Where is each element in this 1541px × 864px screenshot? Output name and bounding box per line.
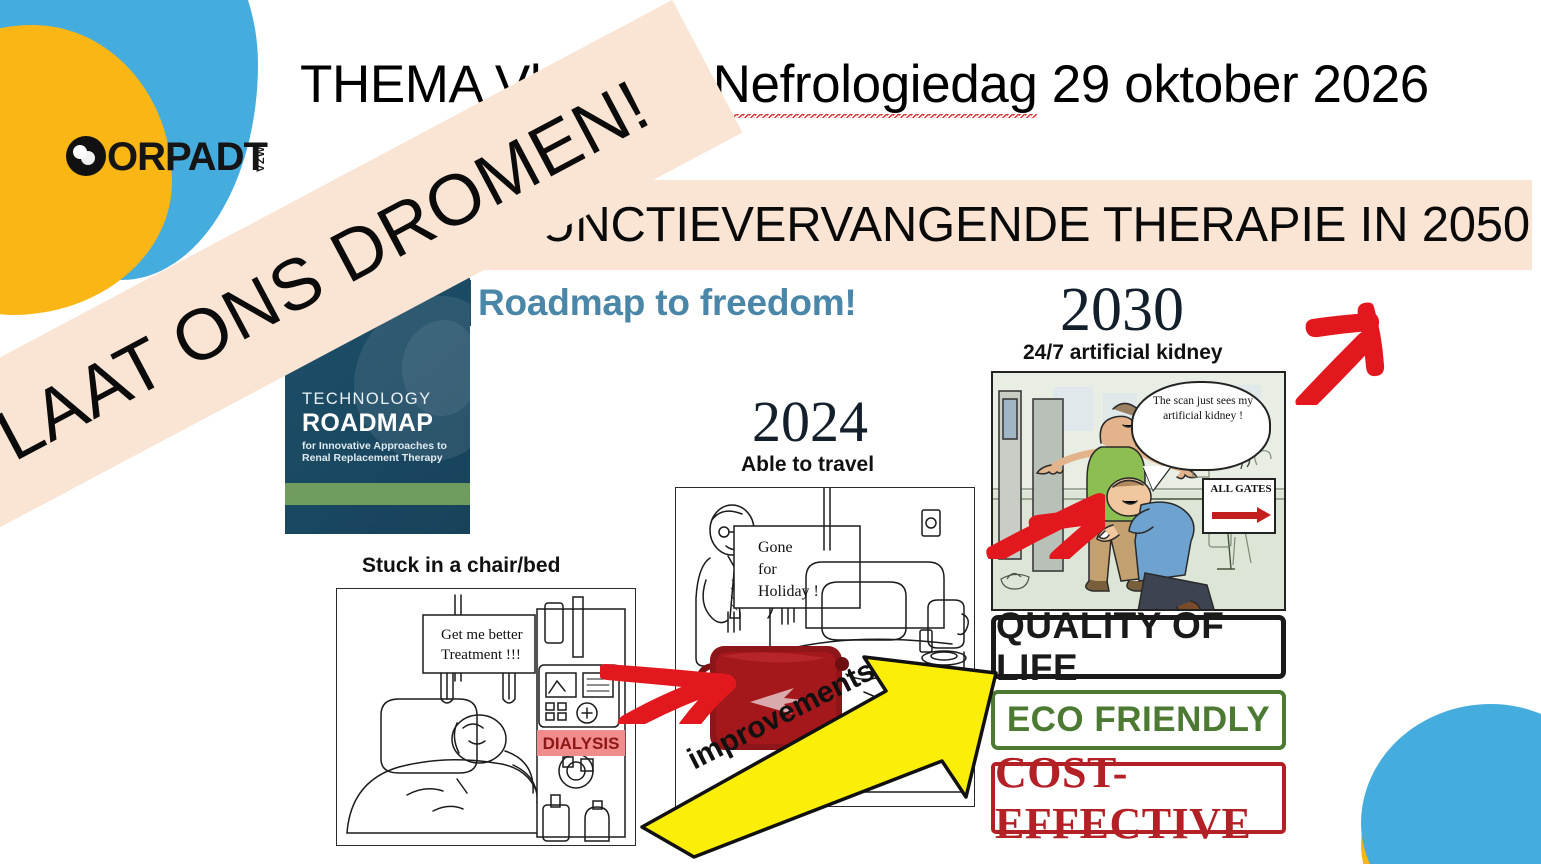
speech-bubble-text: The scan just sees my artificial kidney … xyxy=(1143,394,1263,423)
book-title-line2: ROADMAP xyxy=(302,409,433,438)
presentation-slide: ORPADT VZW THEMA Vlaamse Nefrologiedag 2… xyxy=(0,0,1541,864)
book-subtitle: for Innovative Approaches to Renal Repla… xyxy=(302,440,460,464)
speech-bubble-tail xyxy=(1143,466,1171,490)
svg-text:Holiday !: Holiday ! xyxy=(758,583,819,600)
svg-text:for: for xyxy=(758,561,777,578)
all-gates-sign-text: ALL GATES xyxy=(1204,483,1278,496)
all-gates-sign: ALL GATES xyxy=(1202,478,1276,534)
gates-direction-arrow-icon xyxy=(1212,512,1258,519)
orpadt-circles-icon xyxy=(66,136,106,176)
speech-bubble: The scan just sees my artificial kidney … xyxy=(1131,381,1271,471)
red-arrow-right-travel-to-2030-icon xyxy=(985,485,1105,559)
red-arrow-up-right-icon xyxy=(1290,295,1410,405)
page-title-suffix: 29 oktober 2026 xyxy=(1037,55,1428,114)
stage-now-label: Stuck in a chair/bed xyxy=(362,554,560,578)
svg-text:DIALYSIS: DIALYSIS xyxy=(543,734,620,753)
svg-text:Get me better: Get me better xyxy=(441,627,523,643)
stamp-cost-effective: COST-EFFECTIVE xyxy=(991,762,1286,834)
book-cover-green-band xyxy=(285,483,470,505)
stage-2024-year: 2024 xyxy=(752,388,868,455)
roadmap-heading: Roadmap to freedom! xyxy=(478,282,857,324)
stage-2030-year: 2030 xyxy=(1060,275,1184,346)
stage-now-cartoon: Get me better Treatment !!! DIALYSIS xyxy=(336,588,636,846)
decorative-blob-blue-bottom-right xyxy=(1361,704,1541,864)
dialysis-bed-illustration: Get me better Treatment !!! DIALYSIS xyxy=(337,589,636,846)
orpadt-wordmark: ORPADT xyxy=(107,138,267,176)
svg-text:Treatment !!!: Treatment !!! xyxy=(441,647,521,663)
book-title-line1: TECHNOLOGY xyxy=(302,390,432,409)
stage-2030-label: 24/7 artificial kidney xyxy=(1023,341,1223,365)
stamp-eco-friendly-text: ECO FRIENDLY xyxy=(1007,700,1270,740)
stamp-quality-of-life: QUALITY OF LIFE xyxy=(991,615,1286,679)
stamp-cost-effective-text: COST-EFFECTIVE xyxy=(995,747,1282,849)
page-title-spellcheck-word: Nefrologiedag xyxy=(713,55,1038,118)
stamp-quality-of-life-text: QUALITY OF LIFE xyxy=(996,605,1281,689)
stamp-eco-friendly: ECO FRIENDLY xyxy=(991,690,1286,750)
page-title: THEMA Vlaamse Nefrologiedag 29 oktober 2… xyxy=(300,54,1430,115)
orpadt-legal-suffix: VZW xyxy=(255,146,267,172)
svg-text:Gone: Gone xyxy=(758,539,793,556)
stage-2024-label: Able to travel xyxy=(741,453,874,477)
orpadt-logo: ORPADT VZW xyxy=(66,136,295,176)
